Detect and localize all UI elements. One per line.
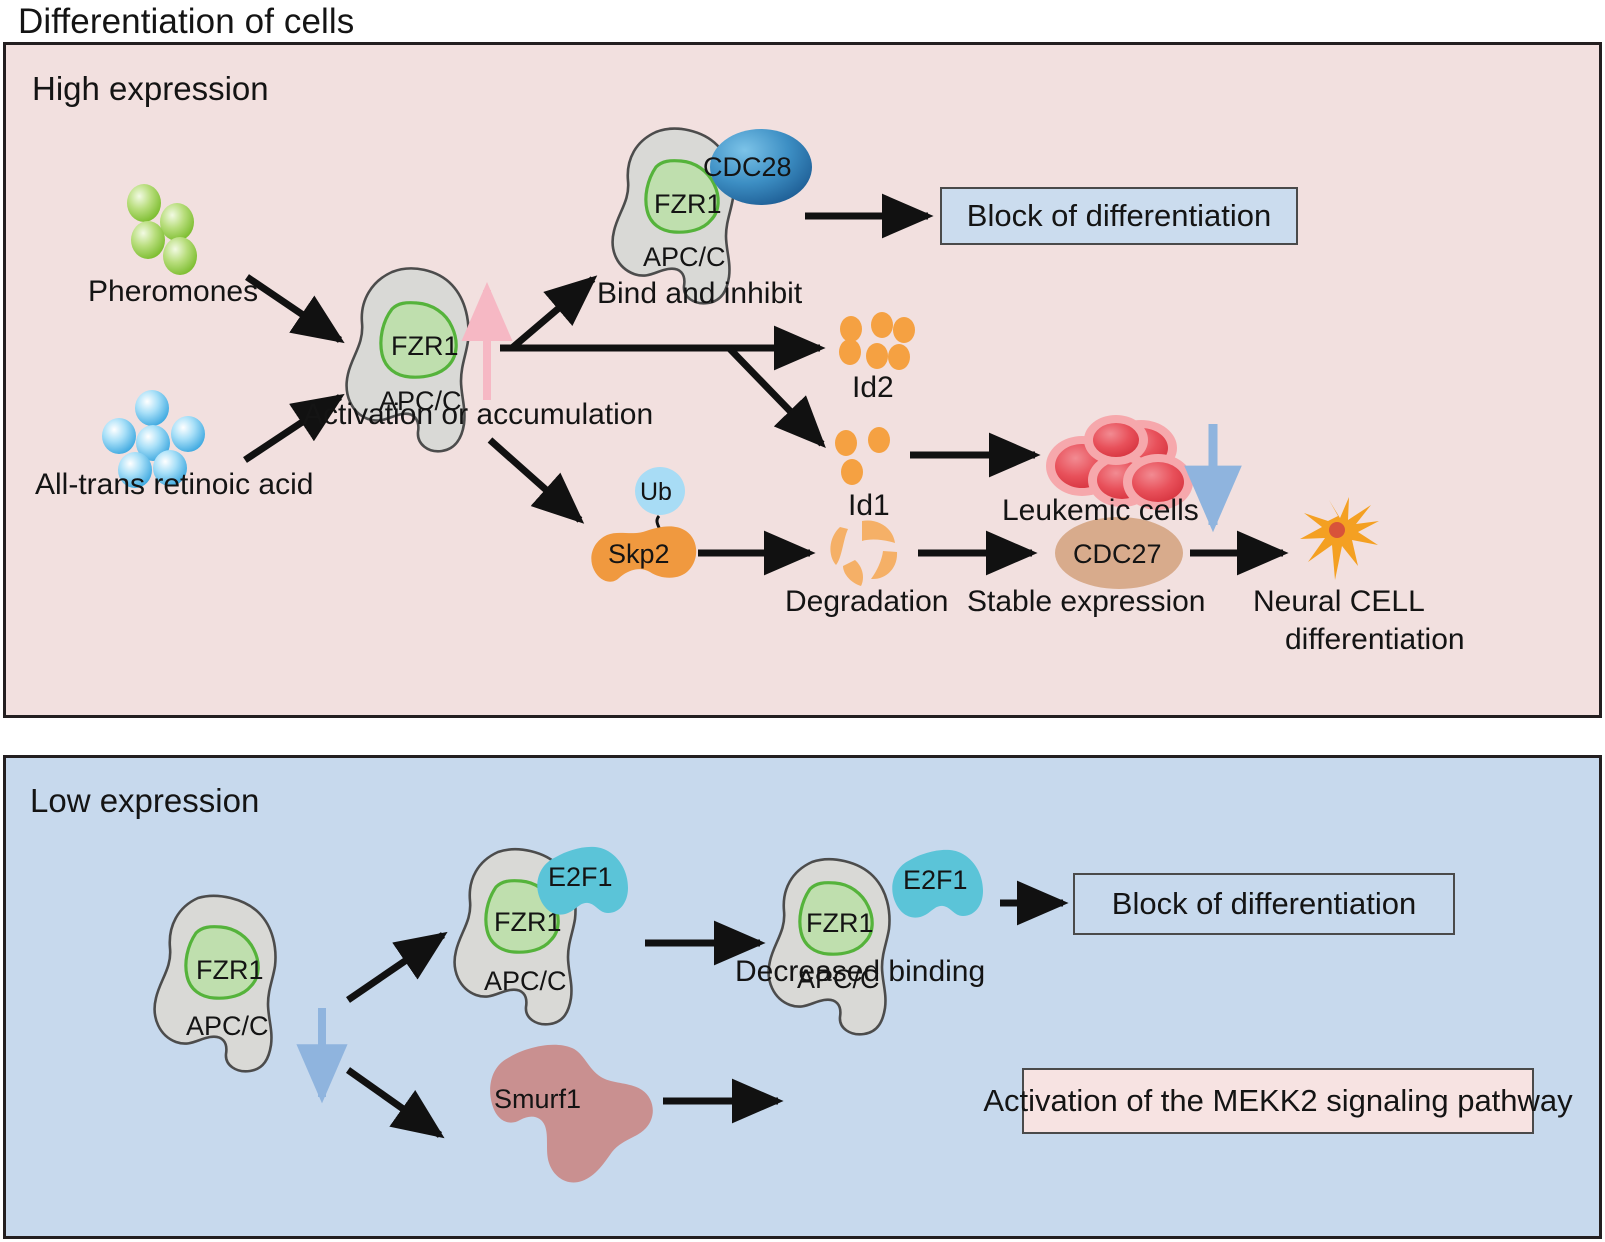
label-degradation: Degradation — [785, 585, 948, 619]
label-id1: Id1 — [848, 489, 890, 523]
figure-title: Differentiation of cells — [18, 2, 354, 42]
caption-bind-and-inhibit: Bind and inhibit — [597, 277, 802, 311]
label-id2: Id2 — [852, 371, 894, 405]
label-pheromones: Pheromones — [88, 275, 258, 309]
label-leukemic-cells: Leukemic cells — [1002, 494, 1199, 528]
caption-decreased-binding: Decreased binding — [735, 955, 985, 989]
panel-low-expression — [3, 755, 1602, 1239]
panel-label-high: High expression — [32, 70, 269, 108]
panel-label-low: Low expression — [30, 782, 259, 820]
outcome-box-block-low: Block of differentiation — [1073, 873, 1455, 935]
outcome-text-mekk2: Activation of the MEKK2 signaling pathwa… — [983, 1083, 1572, 1119]
label-neural-cell-line1: Neural CELL — [1253, 585, 1425, 619]
label-atra: All-trans retinoic acid — [35, 468, 313, 502]
caption-stable-expression: Stable expression — [967, 585, 1205, 619]
caption-activation-accumulation: Activation or accumulation — [303, 398, 653, 432]
outcome-text-block-high: Block of differentiation — [967, 198, 1271, 234]
label-neural-cell-line2: differentiation — [1285, 623, 1465, 657]
outcome-text-block-low: Block of differentiation — [1112, 886, 1416, 922]
outcome-box-block-high: Block of differentiation — [940, 187, 1298, 245]
figure-root: Differentiation of cells High expression… — [0, 0, 1605, 1242]
outcome-box-mekk2: Activation of the MEKK2 signaling pathwa… — [1022, 1068, 1534, 1134]
